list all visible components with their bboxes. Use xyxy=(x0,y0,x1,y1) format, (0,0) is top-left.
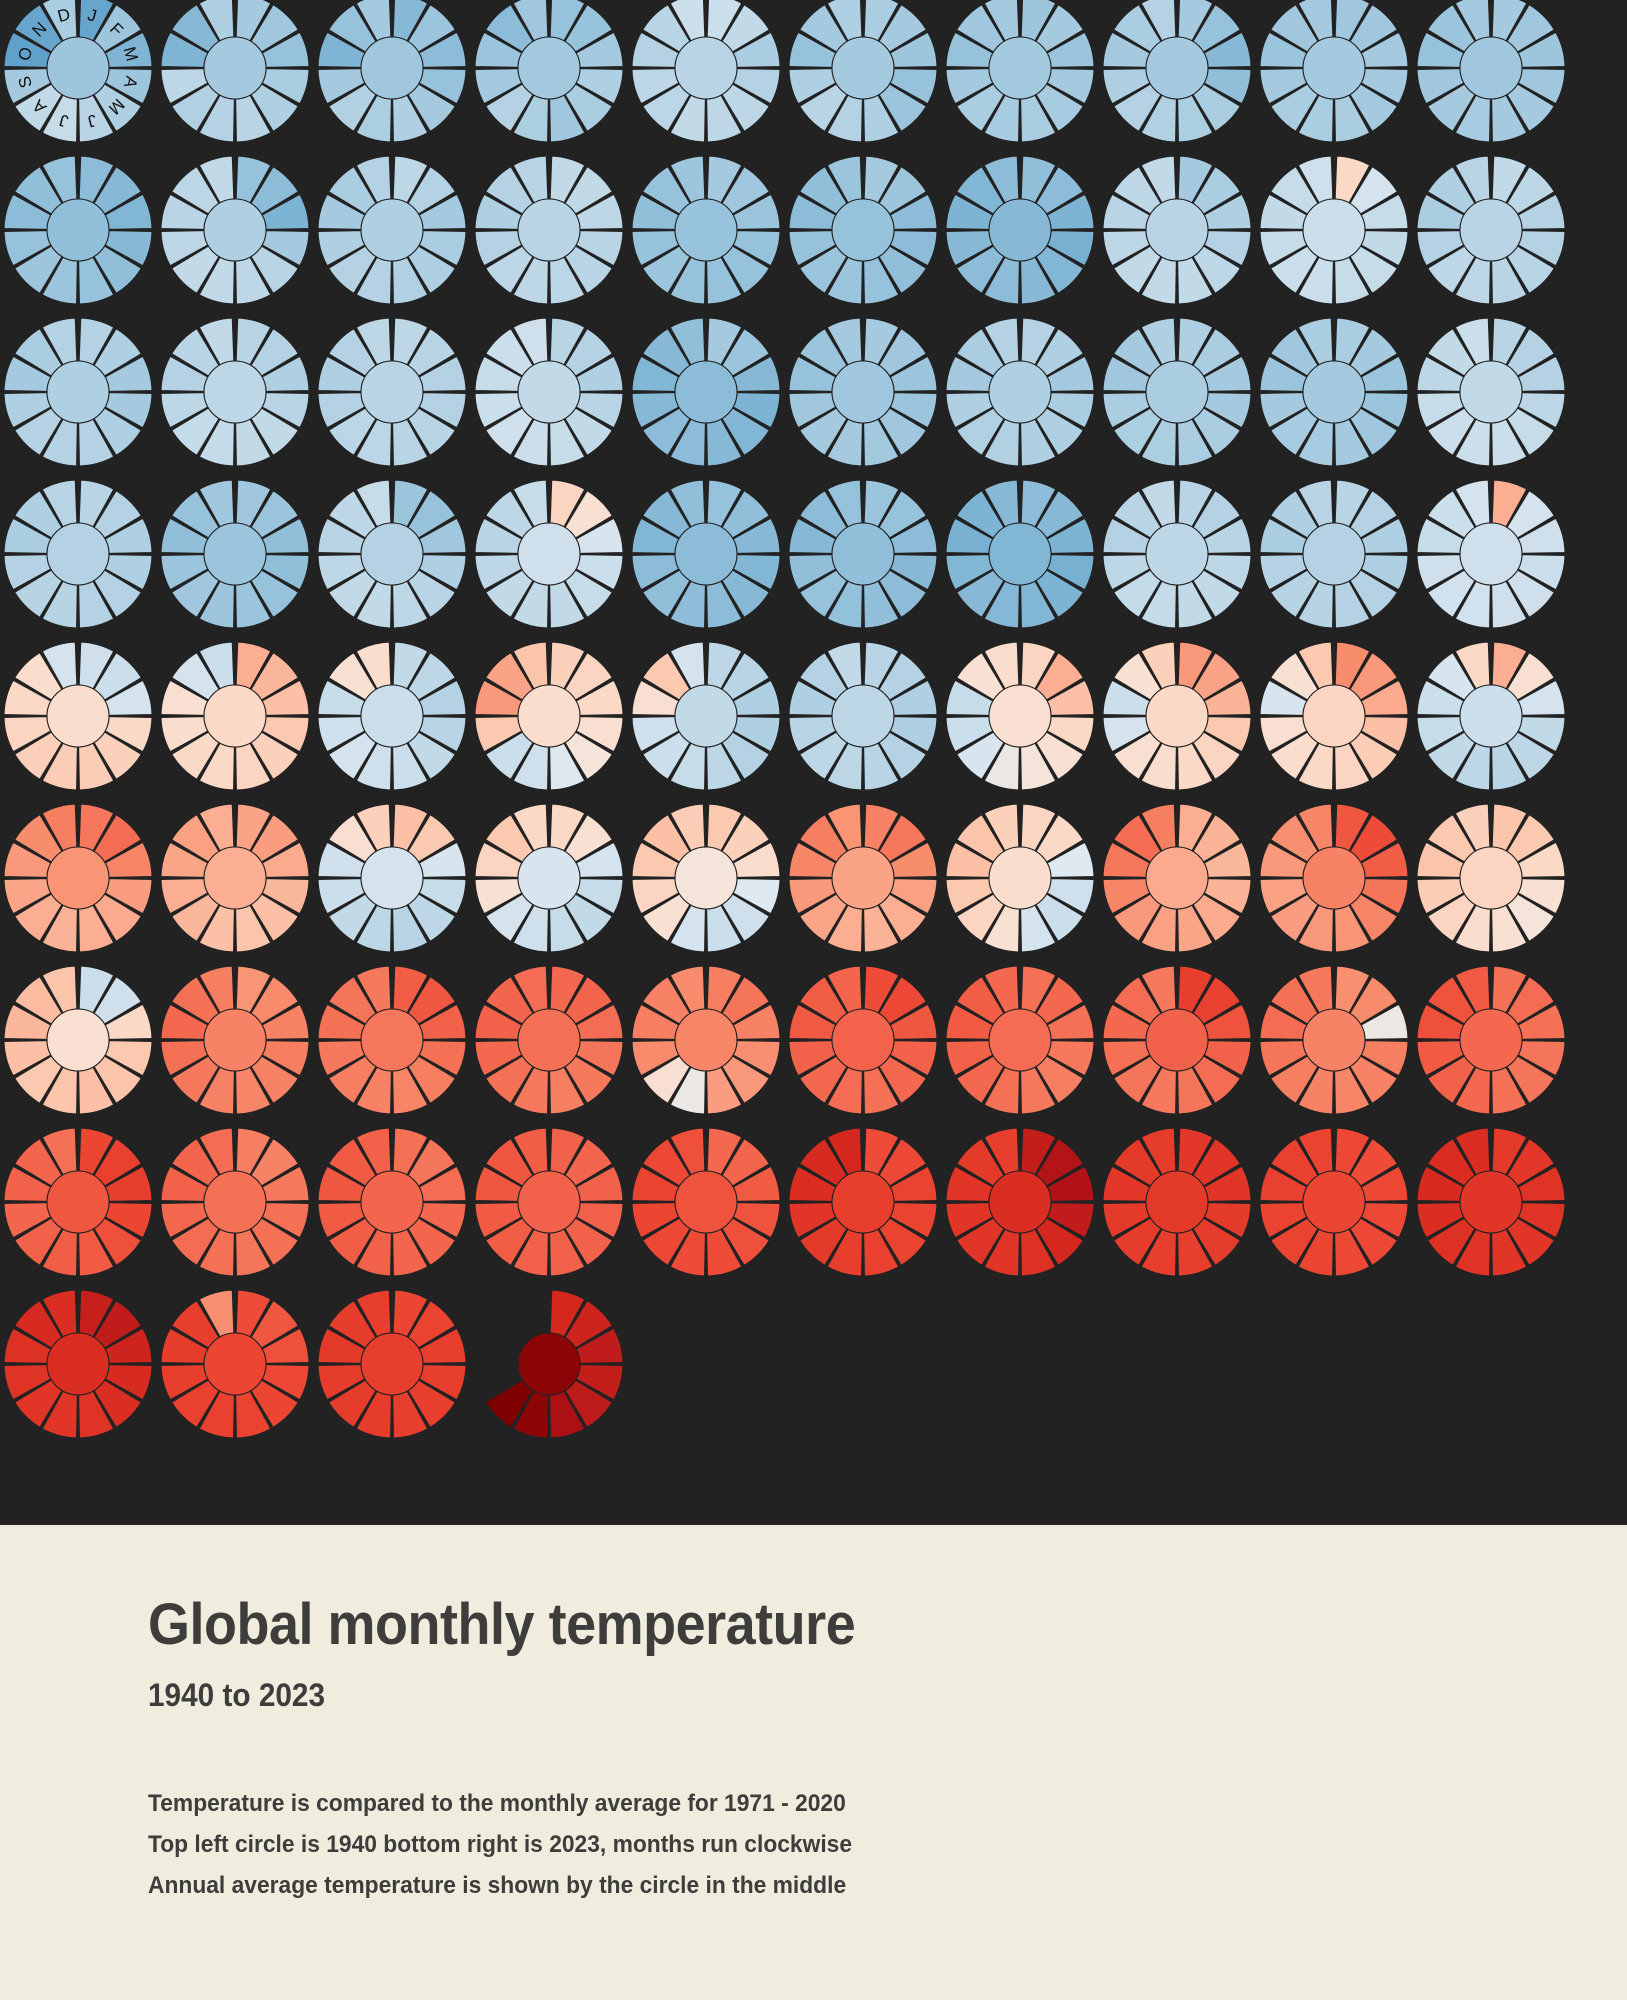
annual-average-circle[interactable] xyxy=(675,361,737,423)
annual-average-circle[interactable] xyxy=(1460,1171,1522,1233)
annual-average-circle[interactable] xyxy=(204,361,266,423)
annual-average-circle[interactable] xyxy=(989,361,1051,423)
annual-average-circle[interactable] xyxy=(989,199,1051,261)
annual-average-circle[interactable] xyxy=(1146,37,1208,99)
annual-average-circle[interactable] xyxy=(361,685,423,747)
year-circle[interactable] xyxy=(1103,318,1251,466)
annual-average-circle[interactable] xyxy=(1303,1009,1365,1071)
annual-average-circle[interactable] xyxy=(832,847,894,909)
annual-average-circle[interactable] xyxy=(832,37,894,99)
year-circle[interactable] xyxy=(1417,480,1565,628)
annual-average-circle[interactable] xyxy=(47,1171,109,1233)
year-circle[interactable] xyxy=(1260,642,1408,790)
year-circle[interactable] xyxy=(789,1128,937,1276)
year-circle[interactable] xyxy=(632,966,780,1114)
annual-average-circle[interactable] xyxy=(1303,523,1365,585)
annual-average-circle[interactable] xyxy=(832,523,894,585)
year-circle[interactable] xyxy=(1260,804,1408,952)
year-circle[interactable] xyxy=(318,966,466,1114)
year-circle[interactable] xyxy=(946,0,1094,142)
year-circle[interactable] xyxy=(632,318,780,466)
annual-average-circle[interactable] xyxy=(1146,847,1208,909)
year-circle[interactable] xyxy=(946,156,1094,304)
year-circle[interactable] xyxy=(318,480,466,628)
year-circle[interactable] xyxy=(1417,156,1565,304)
annual-average-circle[interactable] xyxy=(204,199,266,261)
year-circle[interactable] xyxy=(632,804,780,952)
year-circle[interactable] xyxy=(4,318,152,466)
year-circle[interactable] xyxy=(4,642,152,790)
annual-average-circle[interactable] xyxy=(361,361,423,423)
annual-average-circle[interactable] xyxy=(1460,199,1522,261)
year-circle[interactable] xyxy=(1103,0,1251,142)
annual-average-circle[interactable] xyxy=(518,199,580,261)
page-root: JFMAMJJASOND Global monthly temperature … xyxy=(0,0,1627,2000)
year-circle[interactable] xyxy=(1103,480,1251,628)
year-circle[interactable] xyxy=(946,318,1094,466)
annual-average-circle[interactable] xyxy=(518,1171,580,1233)
year-circle[interactable] xyxy=(4,156,152,304)
year-circle[interactable] xyxy=(1417,804,1565,952)
year-circle[interactable]: JFMAMJJASOND xyxy=(4,0,152,142)
annual-average-circle[interactable] xyxy=(1146,685,1208,747)
annual-average-circle[interactable] xyxy=(204,523,266,585)
annual-average-circle[interactable] xyxy=(989,847,1051,909)
year-circle[interactable] xyxy=(318,0,466,142)
annual-average-circle[interactable] xyxy=(518,1009,580,1071)
annual-average-circle[interactable] xyxy=(832,199,894,261)
year-circle[interactable] xyxy=(161,318,309,466)
annual-average-circle[interactable] xyxy=(204,1171,266,1233)
year-circle[interactable] xyxy=(946,1128,1094,1276)
year-circle[interactable] xyxy=(475,642,623,790)
annual-average-circle[interactable] xyxy=(518,847,580,909)
annual-average-circle[interactable] xyxy=(1460,1009,1522,1071)
annual-average-circle[interactable] xyxy=(1303,361,1365,423)
annual-average-circle[interactable] xyxy=(518,37,580,99)
annual-average-circle[interactable] xyxy=(832,1009,894,1071)
annual-average-circle[interactable] xyxy=(1146,199,1208,261)
year-circle-grid: JFMAMJJASOND xyxy=(0,0,1627,1525)
year-circle[interactable] xyxy=(632,156,780,304)
annual-average-circle[interactable] xyxy=(1146,361,1208,423)
note-line-1: Temperature is compared to the monthly a… xyxy=(148,1783,852,1824)
year-circle[interactable] xyxy=(1103,966,1251,1114)
annual-average-circle[interactable] xyxy=(361,523,423,585)
chart-panel: JFMAMJJASOND xyxy=(0,0,1627,1525)
year-circle[interactable] xyxy=(789,0,937,142)
year-circle[interactable] xyxy=(789,642,937,790)
year-circle[interactable] xyxy=(946,642,1094,790)
year-circle[interactable] xyxy=(475,156,623,304)
year-circle[interactable] xyxy=(161,156,309,304)
year-circle[interactable] xyxy=(318,156,466,304)
year-circle[interactable] xyxy=(318,1128,466,1276)
annual-average-circle[interactable] xyxy=(361,847,423,909)
year-circle[interactable] xyxy=(1417,0,1565,142)
year-circle[interactable] xyxy=(632,480,780,628)
year-circle[interactable] xyxy=(161,480,309,628)
page-title: Global monthly temperature xyxy=(148,1591,855,1658)
year-circle[interactable] xyxy=(1260,480,1408,628)
annual-average-circle[interactable] xyxy=(204,847,266,909)
annual-average-circle[interactable] xyxy=(518,1333,580,1395)
year-circle[interactable] xyxy=(161,1128,309,1276)
annual-average-circle[interactable] xyxy=(1303,37,1365,99)
year-circle[interactable] xyxy=(1260,966,1408,1114)
year-circle[interactable] xyxy=(632,1128,780,1276)
year-circle[interactable] xyxy=(486,1290,623,1438)
year-circle[interactable] xyxy=(946,804,1094,952)
annual-average-circle[interactable] xyxy=(675,1009,737,1071)
year-circle[interactable] xyxy=(1260,156,1408,304)
year-circle[interactable] xyxy=(4,966,152,1114)
year-circle[interactable] xyxy=(632,642,780,790)
annual-average-circle[interactable] xyxy=(675,37,737,99)
annual-average-circle[interactable] xyxy=(518,685,580,747)
year-circle[interactable] xyxy=(475,804,623,952)
year-circle[interactable] xyxy=(632,0,780,142)
year-circle[interactable] xyxy=(1103,156,1251,304)
annual-average-circle[interactable] xyxy=(47,1333,109,1395)
year-circle[interactable] xyxy=(161,642,309,790)
year-circle[interactable] xyxy=(1417,1128,1565,1276)
annual-average-circle[interactable] xyxy=(675,199,737,261)
annual-average-circle[interactable] xyxy=(675,847,737,909)
annual-average-circle[interactable] xyxy=(47,361,109,423)
year-circle[interactable] xyxy=(789,318,937,466)
year-circle[interactable] xyxy=(4,1290,152,1438)
annual-average-circle[interactable] xyxy=(518,523,580,585)
annual-average-circle[interactable] xyxy=(1460,685,1522,747)
annual-average-circle[interactable] xyxy=(47,523,109,585)
year-circle[interactable] xyxy=(789,156,937,304)
annual-average-circle[interactable] xyxy=(1460,523,1522,585)
caption-panel: Global monthly temperature 1940 to 2023 … xyxy=(0,1525,1627,2000)
year-circle[interactable] xyxy=(4,480,152,628)
annual-average-circle[interactable] xyxy=(1303,685,1365,747)
year-circle[interactable] xyxy=(1417,966,1565,1114)
annual-average-circle[interactable] xyxy=(47,685,109,747)
note-line-3: Annual average temperature is shown by t… xyxy=(148,1865,852,1906)
annual-average-circle[interactable] xyxy=(675,523,737,585)
annual-average-circle[interactable] xyxy=(1146,523,1208,585)
year-circle[interactable] xyxy=(318,1290,466,1438)
annual-average-circle[interactable] xyxy=(832,361,894,423)
annual-average-circle[interactable] xyxy=(989,1009,1051,1071)
annual-average-circle[interactable] xyxy=(989,1171,1051,1233)
annual-average-circle[interactable] xyxy=(832,685,894,747)
annual-average-circle[interactable] xyxy=(989,37,1051,99)
annual-average-circle[interactable] xyxy=(47,37,109,99)
year-circle[interactable] xyxy=(475,318,623,466)
year-circle[interactable] xyxy=(1417,318,1565,466)
year-circle[interactable] xyxy=(1260,0,1408,142)
year-circle[interactable] xyxy=(946,480,1094,628)
year-circle[interactable] xyxy=(318,804,466,952)
annual-average-circle[interactable] xyxy=(361,1009,423,1071)
annual-average-circle[interactable] xyxy=(1460,37,1522,99)
annual-average-circle[interactable] xyxy=(361,199,423,261)
annual-average-circle[interactable] xyxy=(1460,361,1522,423)
year-circle[interactable] xyxy=(1103,1128,1251,1276)
year-circle[interactable] xyxy=(318,318,466,466)
year-circle[interactable] xyxy=(161,0,309,142)
year-circle[interactable] xyxy=(1417,642,1565,790)
year-circle[interactable] xyxy=(475,966,623,1114)
year-circle[interactable] xyxy=(789,966,937,1114)
annual-average-circle[interactable] xyxy=(1146,1009,1208,1071)
year-circle[interactable] xyxy=(789,480,937,628)
annual-average-circle[interactable] xyxy=(1146,1171,1208,1233)
notes-block: Temperature is compared to the monthly a… xyxy=(148,1783,889,1906)
year-circle[interactable] xyxy=(475,0,623,142)
year-circle[interactable] xyxy=(1103,642,1251,790)
annual-average-circle[interactable] xyxy=(204,685,266,747)
annual-average-circle[interactable] xyxy=(204,37,266,99)
annual-average-circle[interactable] xyxy=(675,685,737,747)
year-circle[interactable] xyxy=(161,1290,309,1438)
annual-average-circle[interactable] xyxy=(1303,847,1365,909)
annual-average-circle[interactable] xyxy=(204,1009,266,1071)
annual-average-circle[interactable] xyxy=(361,1171,423,1233)
year-circle[interactable] xyxy=(1260,1128,1408,1276)
annual-average-circle[interactable] xyxy=(675,1171,737,1233)
year-circle[interactable] xyxy=(789,804,937,952)
year-circle[interactable] xyxy=(475,480,623,628)
annual-average-circle[interactable] xyxy=(832,1171,894,1233)
year-circle[interactable] xyxy=(161,804,309,952)
year-circle[interactable] xyxy=(1103,804,1251,952)
year-circle[interactable] xyxy=(1260,318,1408,466)
annual-average-circle[interactable] xyxy=(989,523,1051,585)
annual-average-circle[interactable] xyxy=(518,361,580,423)
year-circle[interactable] xyxy=(4,804,152,952)
annual-average-circle[interactable] xyxy=(204,1333,266,1395)
annual-average-circle[interactable] xyxy=(361,37,423,99)
annual-average-circle[interactable] xyxy=(1303,199,1365,261)
annual-average-circle[interactable] xyxy=(47,1009,109,1071)
annual-average-circle[interactable] xyxy=(361,1333,423,1395)
annual-average-circle[interactable] xyxy=(1460,847,1522,909)
note-line-2: Top left circle is 1940 bottom right is … xyxy=(148,1824,852,1865)
annual-average-circle[interactable] xyxy=(47,199,109,261)
annual-average-circle[interactable] xyxy=(1303,1171,1365,1233)
year-circle[interactable] xyxy=(161,966,309,1114)
year-circle[interactable] xyxy=(946,966,1094,1114)
year-circle[interactable] xyxy=(475,1128,623,1276)
year-circle[interactable] xyxy=(318,642,466,790)
annual-average-circle[interactable] xyxy=(989,685,1051,747)
year-circle[interactable] xyxy=(4,1128,152,1276)
page-subtitle: 1940 to 2023 xyxy=(148,1677,325,1714)
annual-average-circle[interactable] xyxy=(47,847,109,909)
